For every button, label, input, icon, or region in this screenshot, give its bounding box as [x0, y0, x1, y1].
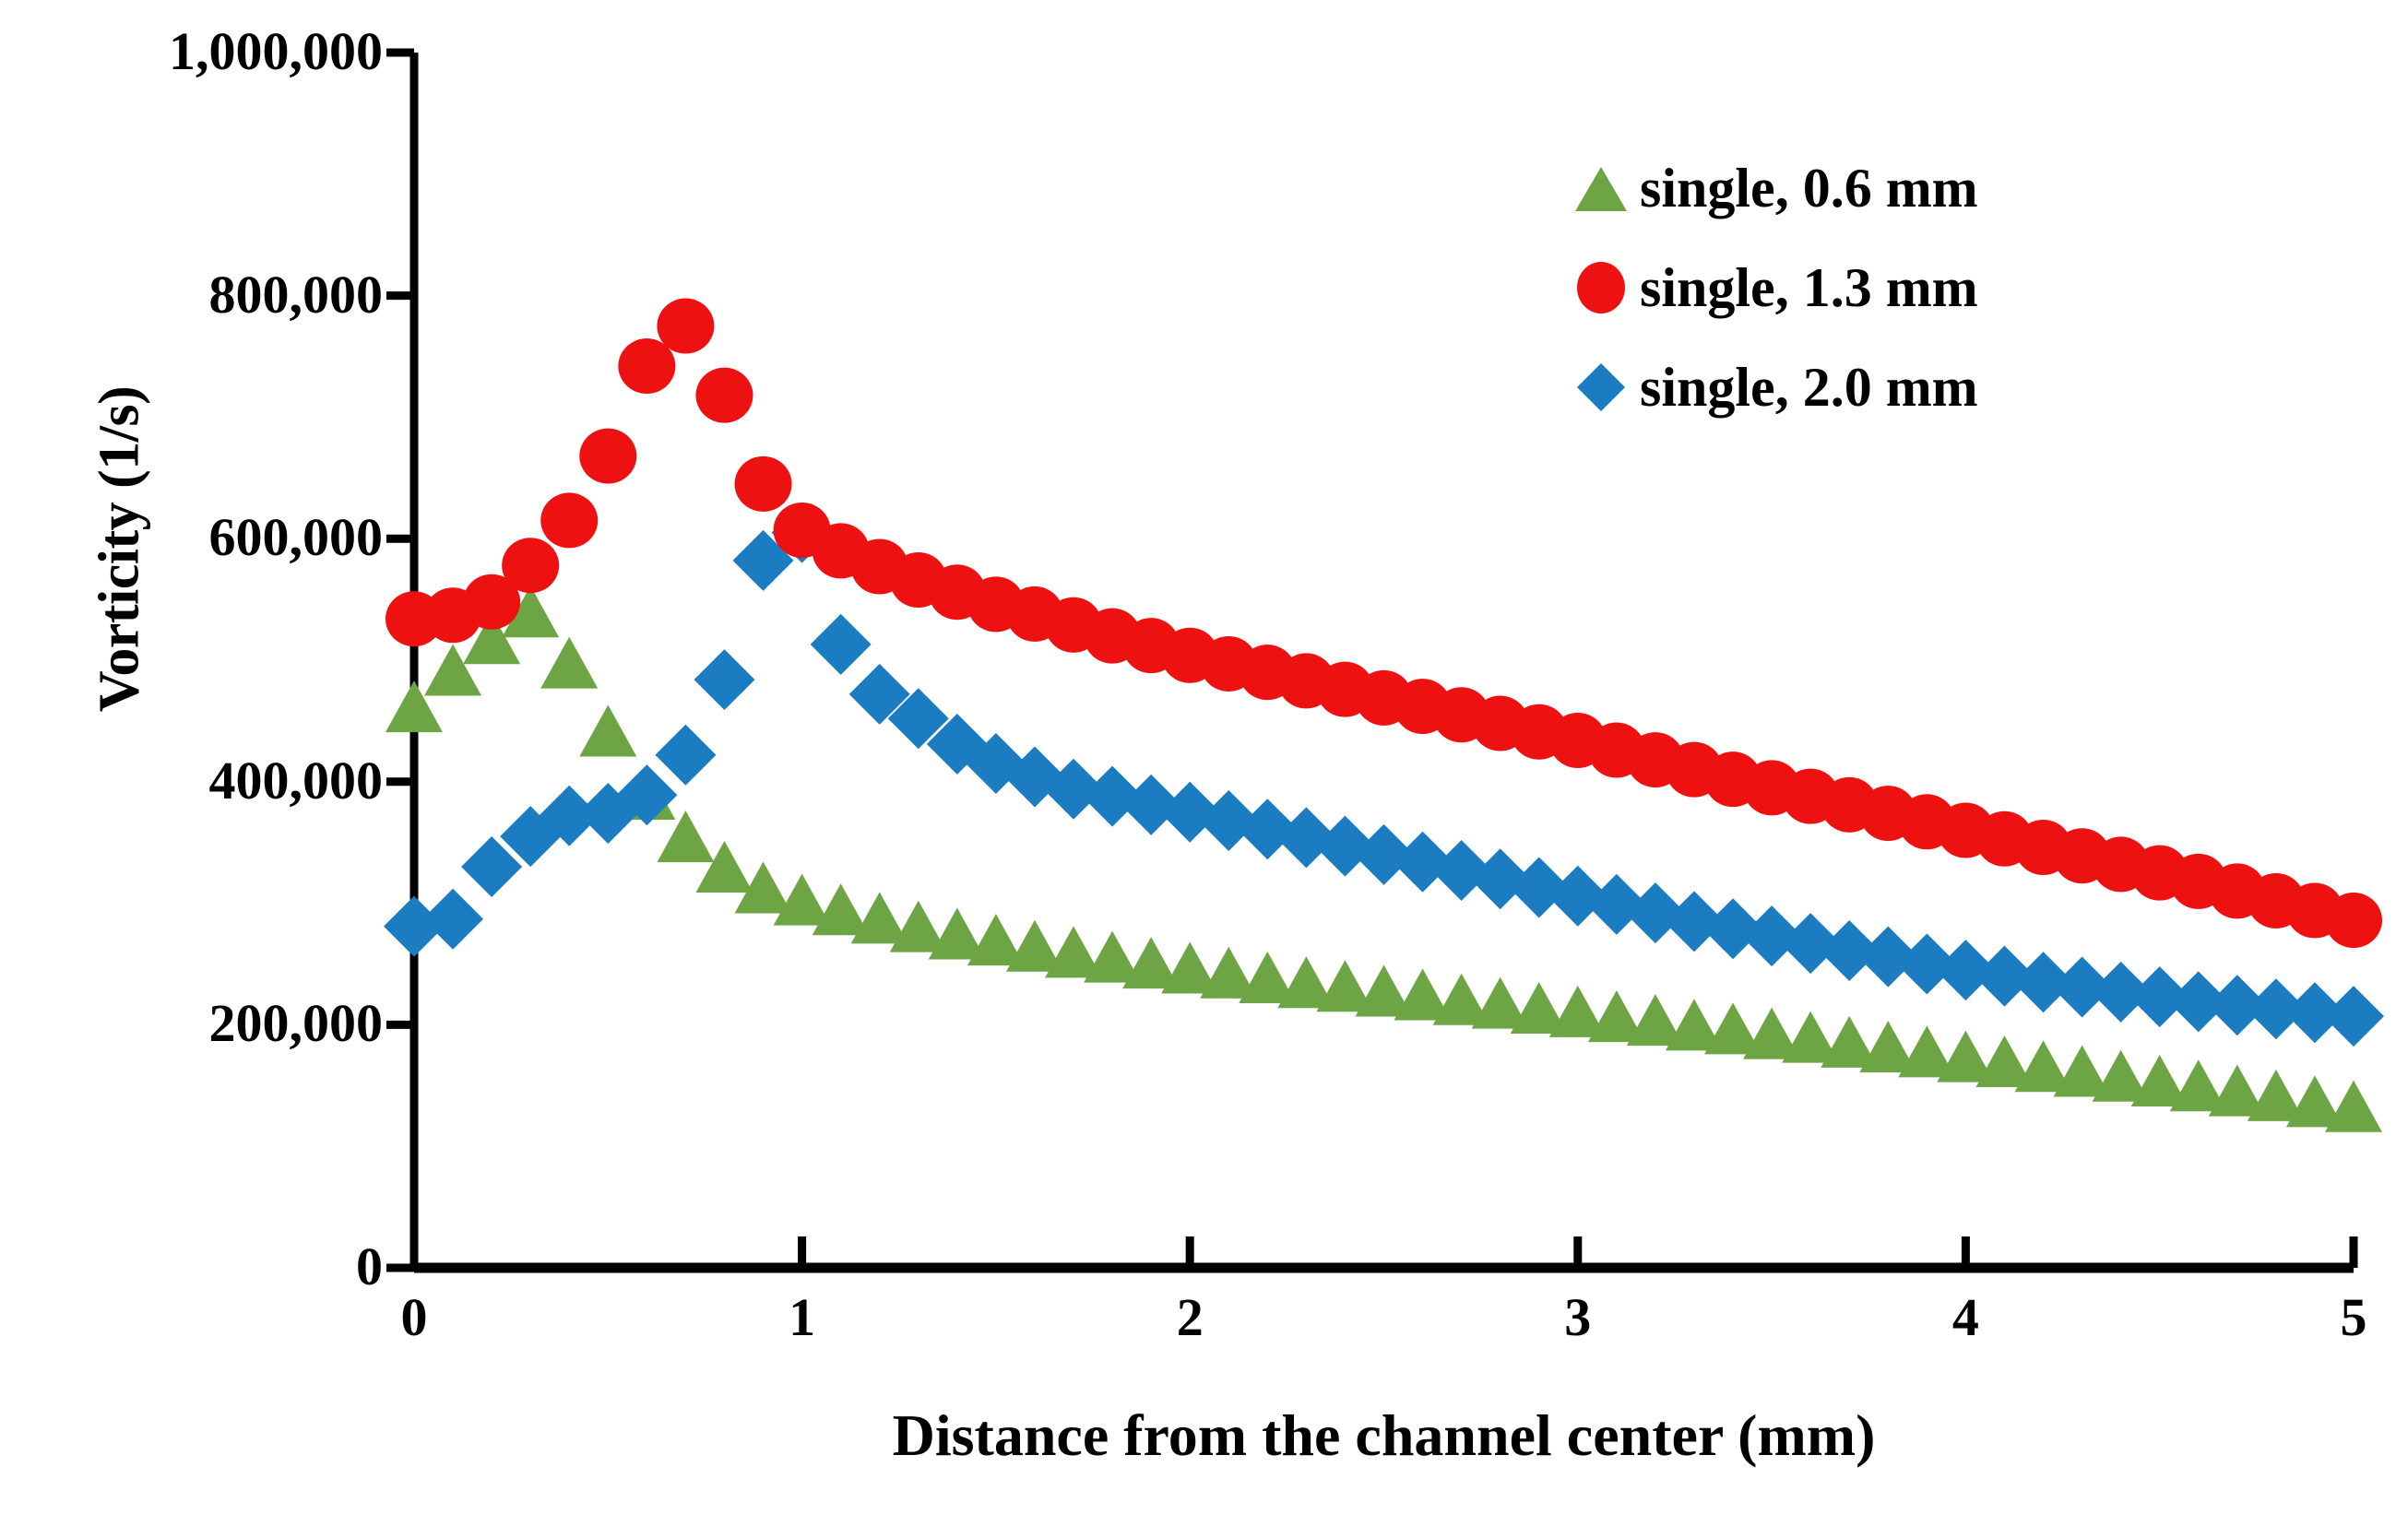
plot-area: [0, 0, 2408, 1526]
data-point: [657, 299, 714, 354]
chart-figure: Vorticity (1/s) 0200,000400,000600,00080…: [0, 0, 2408, 1526]
data-point: [2325, 1081, 2382, 1132]
data-point: [655, 725, 716, 786]
data-point: [422, 889, 483, 950]
data-point: [579, 429, 636, 484]
data-point: [2323, 986, 2384, 1047]
data-point: [695, 368, 753, 423]
data-point: [502, 538, 559, 593]
data-point: [579, 704, 636, 756]
data-point: [694, 649, 754, 710]
data-point: [540, 637, 598, 689]
data-point: [2325, 893, 2382, 948]
data-point: [540, 492, 598, 548]
data-point: [735, 456, 792, 512]
data-point: [811, 614, 872, 675]
